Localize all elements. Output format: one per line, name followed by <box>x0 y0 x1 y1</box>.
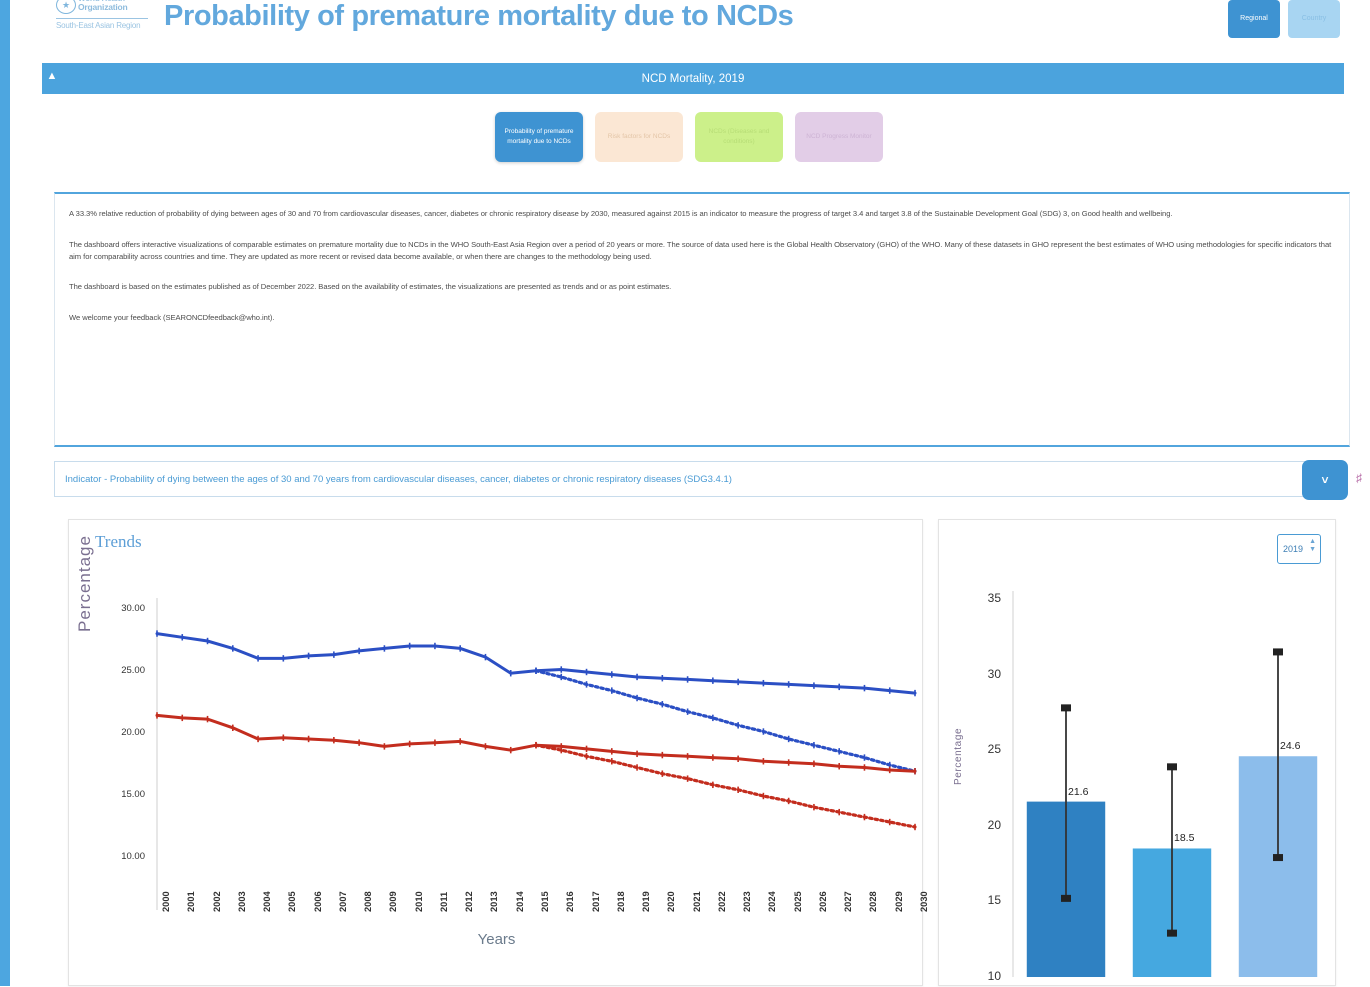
trends-x-tick: 2028 <box>868 891 878 912</box>
trends-x-tick: 2003 <box>237 891 247 912</box>
trends-x-tick: 2006 <box>313 891 323 912</box>
bar-y-tick: 10 <box>973 969 1001 983</box>
page-title: Probability of premature mortality due t… <box>164 0 793 33</box>
bar-y-tick: 35 <box>973 591 1001 605</box>
description-panel: A 33.3% relative reduction of probabilit… <box>54 192 1350 447</box>
trends-x-tick: 2021 <box>692 891 702 912</box>
trends-y-tick: 10.00 <box>99 851 145 862</box>
caret-up-icon[interactable]: ▲ <box>1309 538 1316 546</box>
trends-x-tick: 2024 <box>767 891 777 912</box>
description-paragraph-3: The dashboard is based on the estimates … <box>69 281 1335 293</box>
trends-x-tick: 2014 <box>515 891 525 912</box>
description-paragraph-2: The dashboard offers interactive visuali… <box>69 239 1335 263</box>
trends-x-tick: 2022 <box>717 891 727 912</box>
scope-button-country[interactable]: Country <box>1288 0 1340 38</box>
estimates-chart-card: 2019 ▲ ▼ Percentage 101520253035 21.618.… <box>938 519 1336 986</box>
trends-x-tick: 2015 <box>540 891 550 912</box>
page-header: ★ World Health Organization South-East A… <box>14 0 1364 58</box>
page-right-gutter <box>1364 0 1370 986</box>
trends-x-tick: 2001 <box>186 891 196 912</box>
trends-x-tick: 2023 <box>742 891 752 912</box>
trends-x-tick: 2019 <box>641 891 651 912</box>
dashboard-page: ★ World Health Organization South-East A… <box>14 0 1364 986</box>
trends-y-tick: 30.00 <box>99 603 145 614</box>
description-paragraph-4: We welcome your feedback (SEARONCDfeedba… <box>69 312 1335 324</box>
banner-title: NCD Mortality, 2019 <box>642 73 745 85</box>
indicator-selector[interactable]: Indicator - Probability of dying between… <box>54 461 1364 497</box>
trends-x-tick: 2025 <box>793 891 803 912</box>
trends-x-tick: 2005 <box>287 891 297 912</box>
logo-line-3: South-East Asian Region <box>56 21 140 30</box>
indicator-edge-glyph: ♯ <box>1356 471 1362 485</box>
tab-premature-mortality[interactable]: Probability of premature mortality due t… <box>495 112 583 162</box>
trends-chart-title: Trends <box>95 532 142 552</box>
bar-y-tick: 25 <box>973 742 1001 756</box>
trends-x-axis-label: Years <box>69 931 924 948</box>
trends-x-tick: 2017 <box>591 891 601 912</box>
bar-value-label: 21.6 <box>1068 786 1088 798</box>
indicator-label: Indicator - Probability of dying between… <box>65 474 732 485</box>
bar-y-tick: 15 <box>973 893 1001 907</box>
year-stepper[interactable]: 2019 ▲ ▼ <box>1277 534 1321 564</box>
year-stepper-arrows[interactable]: ▲ ▼ <box>1309 538 1316 554</box>
who-logo: ★ World Health Organization South-East A… <box>56 0 152 46</box>
charts-row: Trends Percentage 10.0015.0020.0025.0030… <box>54 519 1350 986</box>
scope-toggle-group: Regional Country <box>1228 0 1340 38</box>
logo-line-2: Organization <box>78 2 128 12</box>
logo-divider <box>56 18 148 19</box>
trends-chart-card: Trends Percentage 10.0015.0020.0025.0030… <box>68 519 923 986</box>
year-stepper-value: 2019 <box>1278 544 1303 554</box>
page-left-rail <box>0 0 10 986</box>
estimates-bar-plot <box>939 577 1337 987</box>
scope-button-regional[interactable]: Regional <box>1228 0 1280 38</box>
bar-y-tick: 30 <box>973 667 1001 681</box>
tab-diseases-conditions[interactable]: NCDs (Diseases and conditions) <box>695 112 783 162</box>
indicator-display[interactable]: Indicator - Probability of dying between… <box>54 461 1309 497</box>
trends-y-tick: 20.00 <box>99 727 145 738</box>
trends-y-tick: 25.00 <box>99 665 145 676</box>
trends-x-tick: 2011 <box>439 892 449 912</box>
trends-x-tick: 2013 <box>489 891 499 912</box>
trends-x-tick: 2004 <box>262 891 272 912</box>
trends-y-tick: 15.00 <box>99 789 145 800</box>
who-emblem-icon: ★ <box>56 0 76 14</box>
tab-progress-monitor[interactable]: NCD Progress Monitor <box>795 112 883 162</box>
theme-tab-group: Probability of premature mortality due t… <box>14 112 1364 162</box>
trends-x-tick: 2010 <box>414 891 424 912</box>
caret-down-icon[interactable]: ▼ <box>1309 546 1316 554</box>
bar-y-tick: 20 <box>973 818 1001 832</box>
trends-x-tick: 2009 <box>388 891 398 912</box>
trends-x-tick: 2008 <box>363 891 373 912</box>
section-banner: ▲ NCD Mortality, 2019 <box>42 63 1344 94</box>
bar-value-label: 24.6 <box>1280 740 1300 752</box>
trends-x-tick: 2007 <box>338 891 348 912</box>
collapse-icon[interactable]: ▲ <box>46 69 58 83</box>
trends-x-tick: 2002 <box>212 891 222 912</box>
trends-x-tick: 2026 <box>818 891 828 912</box>
trends-x-tick: 2020 <box>666 891 676 912</box>
trends-x-tick: 2029 <box>894 891 904 912</box>
trends-x-tick: 2030 <box>919 891 929 912</box>
trends-x-tick: 2016 <box>565 891 575 912</box>
tab-risk-factors[interactable]: Risk factors for NCDs <box>595 112 683 162</box>
indicator-dropdown-button[interactable]: ˅ <box>1302 460 1348 500</box>
bar-value-label: 18.5 <box>1174 832 1194 844</box>
trends-x-tick: 2018 <box>616 891 626 912</box>
trends-x-tick: 2000 <box>161 891 171 912</box>
chevron-down-icon: ˅ <box>1321 473 1328 487</box>
description-paragraph-1: A 33.3% relative reduction of probabilit… <box>69 208 1335 220</box>
trends-x-tick: 2027 <box>843 891 853 912</box>
trends-x-tick: 2012 <box>464 891 474 912</box>
